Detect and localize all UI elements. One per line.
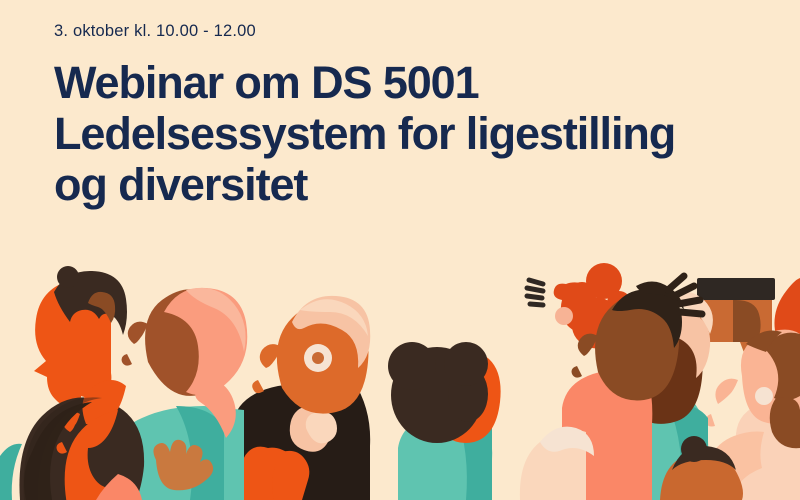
poster-text-block: 3. oktober kl. 10.00 - 12.00 Webinar om … [0,0,800,211]
figure-afro [388,342,501,500]
page-title: Webinar om DS 5001 Ledelsessystem for li… [54,58,770,211]
title-line-2: Ledelsessystem for ligestilling [54,109,770,160]
title-line-3: og diversitet [54,160,770,211]
event-poster: 3. oktober kl. 10.00 - 12.00 Webinar om … [0,0,800,500]
event-date-time: 3. oktober kl. 10.00 - 12.00 [54,22,770,40]
title-line-1: Webinar om DS 5001 [54,58,770,109]
